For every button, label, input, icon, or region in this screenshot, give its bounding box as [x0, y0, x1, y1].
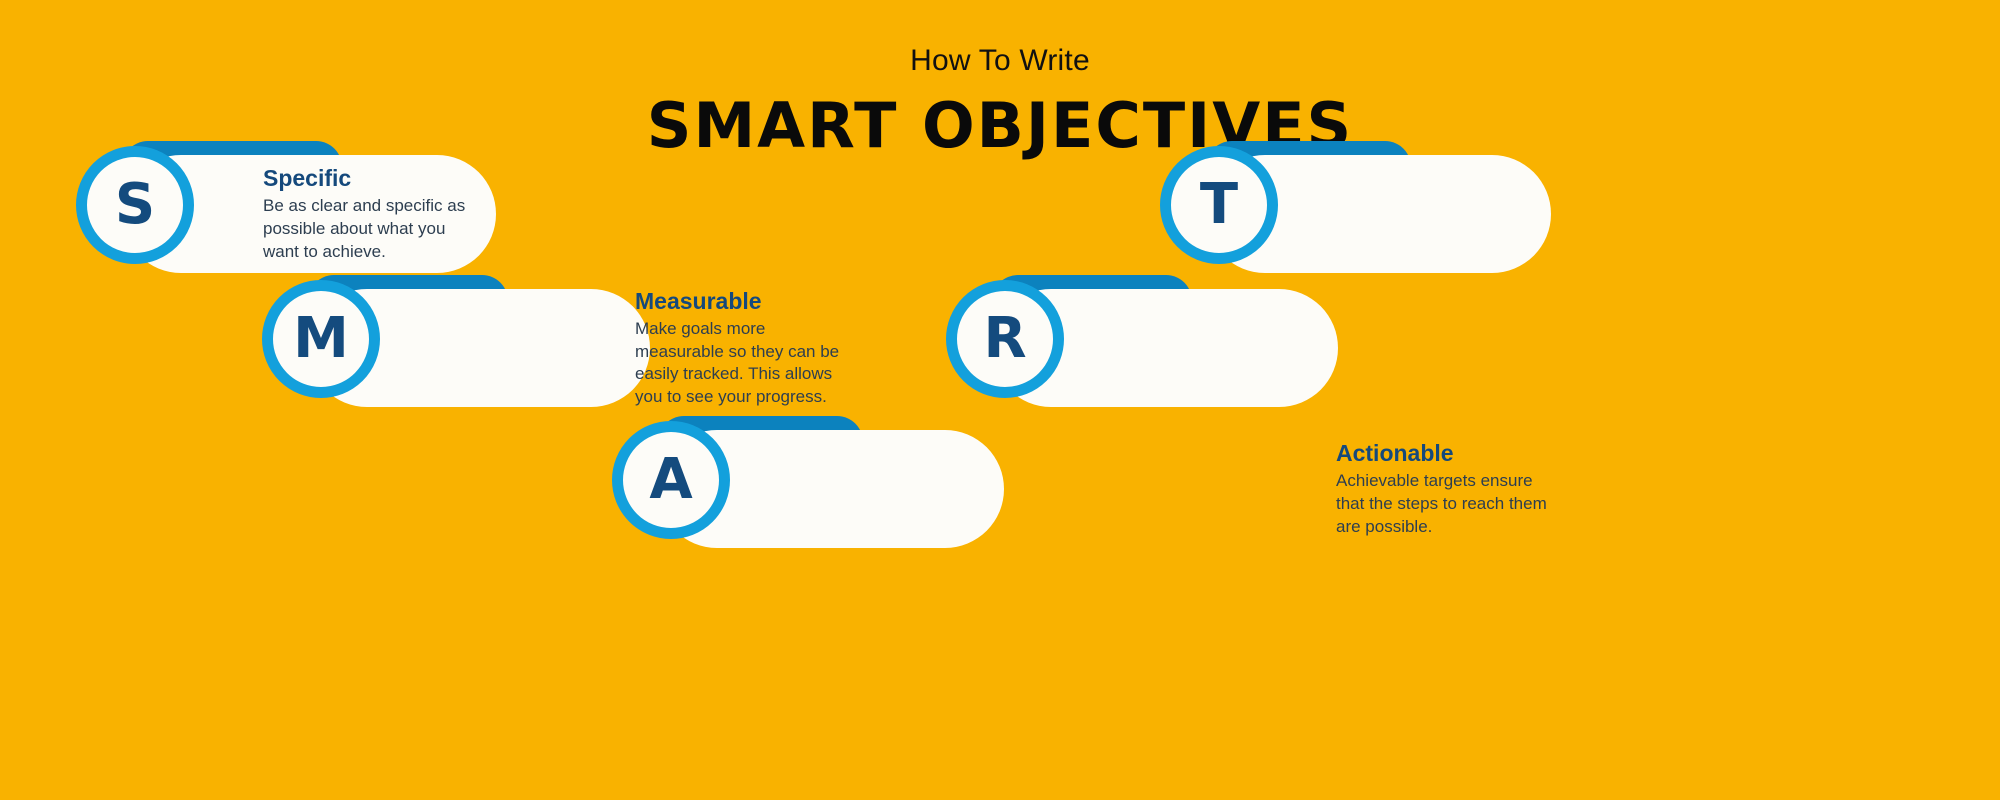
card-description: Make goals more measurable so they can b…: [635, 318, 850, 408]
badge-letter: R: [983, 311, 1026, 367]
letter-badge-a: A: [612, 421, 730, 539]
smart-card-realistic[interactable]: R Realistic Do you have what you need to…: [946, 289, 1292, 407]
card-heading: Measurable: [635, 288, 850, 314]
title-block: How To Write SMART OBJECTIVES: [0, 0, 2000, 158]
smart-card-actionable[interactable]: A Actionable Achievable targets ensure t…: [612, 430, 958, 548]
infographic-canvas: How To Write SMART OBJECTIVES S Specific…: [0, 0, 2000, 800]
badge-letter: T: [1200, 177, 1238, 233]
card-text-column: Specific Be as clear and specific as pos…: [263, 155, 478, 273]
smart-card-measurable[interactable]: M Measurable Make goals more measurable …: [262, 289, 604, 407]
badge-letter: A: [649, 452, 692, 508]
card-description: Achievable targets ensure that the steps…: [1336, 470, 1558, 538]
card-description: Be as clear and specific as possible abo…: [263, 195, 478, 263]
card-text-column: Measurable Make goals more measurable so…: [635, 289, 850, 407]
smart-card-specific[interactable]: S Specific Be as clear and specific as p…: [76, 155, 450, 273]
badge-letter: S: [115, 177, 155, 233]
card-heading: Actionable: [1336, 440, 1558, 466]
letter-badge-m: M: [262, 280, 380, 398]
letter-badge-r: R: [946, 280, 1064, 398]
letter-badge-s: S: [76, 146, 194, 264]
badge-letter: M: [293, 311, 349, 367]
smart-card-timebound[interactable]: T Timebound Set a realistic time limit s…: [1160, 155, 1505, 273]
card-heading: Specific: [263, 165, 478, 191]
card-text-column: Actionable Achievable targets ensure tha…: [1336, 430, 1558, 548]
eyebrow-text: How To Write: [0, 0, 2000, 77]
letter-badge-t: T: [1160, 146, 1278, 264]
